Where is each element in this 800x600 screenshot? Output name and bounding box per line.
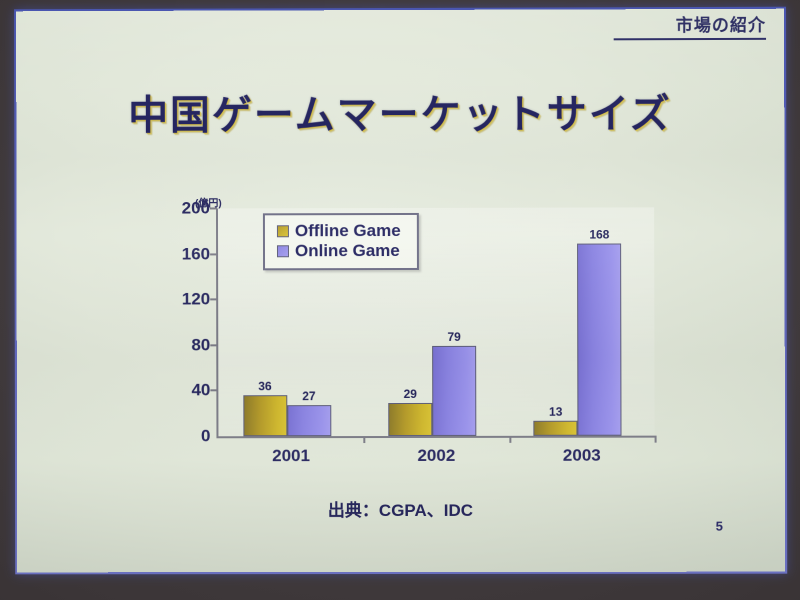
x-axis-tick-label: 2001 <box>272 446 310 466</box>
bar-offline-2001: 36 <box>243 395 287 436</box>
bar-offline-2002: 29 <box>388 403 432 436</box>
bar-online-2003: 168 <box>577 244 621 436</box>
bar-offline-2003: 13 <box>534 421 578 436</box>
x-axis-tick <box>655 436 657 443</box>
y-axis-tick-label: 120 <box>166 290 210 310</box>
legend-swatch-online <box>277 245 289 257</box>
y-axis-tick <box>210 299 217 301</box>
x-axis-tick <box>509 436 511 443</box>
y-axis-tick-label: 80 <box>166 335 210 355</box>
bar-value-label: 27 <box>302 389 315 403</box>
y-axis-tick <box>210 390 217 392</box>
legend-item: Online Game <box>277 241 401 261</box>
slide-title: 中国ゲームマーケットサイズ <box>16 81 784 141</box>
y-axis-tick <box>210 253 217 255</box>
y-axis-labels: 04080120160200 <box>166 208 210 436</box>
legend-label: Online Game <box>295 241 400 261</box>
x-axis-tick-label: 2003 <box>563 446 601 466</box>
bar-value-label: 36 <box>258 379 271 393</box>
page-number: 5 <box>716 519 723 534</box>
source-note: 出典：CGPA、IDC <box>17 496 785 522</box>
presentation-slide: 市場の紹介 中国ゲームマーケットサイズ (億円) 04080120160200 … <box>16 9 785 573</box>
y-axis-tick-label: 0 <box>167 426 211 446</box>
bar-online-2001: 27 <box>287 405 331 436</box>
legend-swatch-offline <box>277 225 289 237</box>
bar-value-label: 168 <box>589 228 609 242</box>
legend-item: Offline Game <box>277 221 401 241</box>
bar-value-label: 79 <box>447 330 460 344</box>
bar-online-2002: 79 <box>432 346 476 436</box>
legend-label: Offline Game <box>295 221 401 241</box>
y-axis-tick-label: 40 <box>166 381 210 401</box>
projected-slide-photo: 市場の紹介 中国ゲームマーケットサイズ (億円) 04080120160200 … <box>0 0 800 600</box>
y-axis-tick-label: 160 <box>166 244 210 264</box>
slide-header: 市場の紹介 <box>614 15 766 41</box>
bar-group: 13168 <box>533 207 622 435</box>
bar-value-label: 29 <box>404 387 417 401</box>
x-axis-tick <box>364 436 366 443</box>
y-axis-tick <box>210 207 217 209</box>
section-title: 市場の紹介 <box>614 15 766 38</box>
y-axis-tick-label: 200 <box>166 198 210 218</box>
y-axis-tick <box>210 344 217 346</box>
chart-legend: Offline GameOnline Game <box>263 213 419 270</box>
bar-value-label: 13 <box>549 405 562 419</box>
x-axis-tick-label: 2002 <box>417 446 455 466</box>
header-underline <box>614 38 766 40</box>
